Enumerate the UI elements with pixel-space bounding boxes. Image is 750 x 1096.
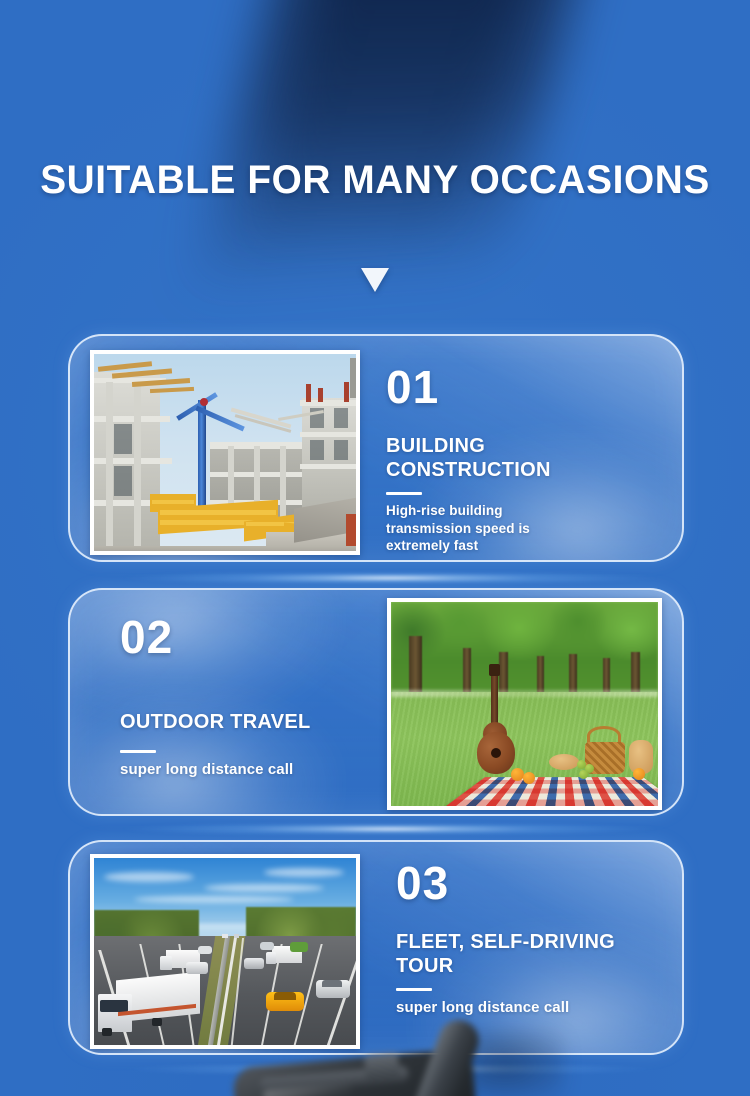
card-3-divider xyxy=(396,988,432,991)
promo-page: SUITABLE FOR MANY OCCASIONS xyxy=(0,0,750,1096)
card-2-number: 02 xyxy=(120,614,311,660)
highway-photo xyxy=(90,854,360,1049)
card-2-divider xyxy=(120,750,156,753)
occasion-card-3[interactable]: 03 FLEET, SELF-DRIVING TOUR super long d… xyxy=(68,840,684,1055)
card-1-headline: BUILDING CONSTRUCTION xyxy=(386,434,586,483)
triangle-down-icon xyxy=(361,268,389,292)
card-3-text: 03 FLEET, SELF-DRIVING TOUR super long d… xyxy=(396,860,648,1018)
card-1-text: 01 BUILDING CONSTRUCTION High-rise build… xyxy=(386,364,586,555)
card-3-subtitle: super long distance call xyxy=(396,998,648,1018)
occasion-card-1[interactable]: 01 BUILDING CONSTRUCTION High-rise build… xyxy=(68,334,684,562)
construction-photo xyxy=(90,350,360,555)
card-2-text: 02 OUTDOOR TRAVEL super long distance ca… xyxy=(120,614,311,780)
occasion-card-2[interactable]: 02 OUTDOOR TRAVEL super long distance ca… xyxy=(68,588,684,816)
card-1-divider xyxy=(386,492,422,495)
picnic-photo xyxy=(387,598,662,810)
card-1-subtitle: High-rise building transmission speed is… xyxy=(386,502,536,555)
card-2-subtitle: super long distance call xyxy=(120,760,311,780)
card-3-headline: FLEET, SELF-DRIVING TOUR xyxy=(396,930,648,979)
card-3-number: 03 xyxy=(396,860,648,906)
card-2-headline: OUTDOOR TRAVEL xyxy=(120,710,311,734)
card-1-number: 01 xyxy=(386,364,586,410)
page-title: SUITABLE FOR MANY OCCASIONS xyxy=(11,158,739,203)
